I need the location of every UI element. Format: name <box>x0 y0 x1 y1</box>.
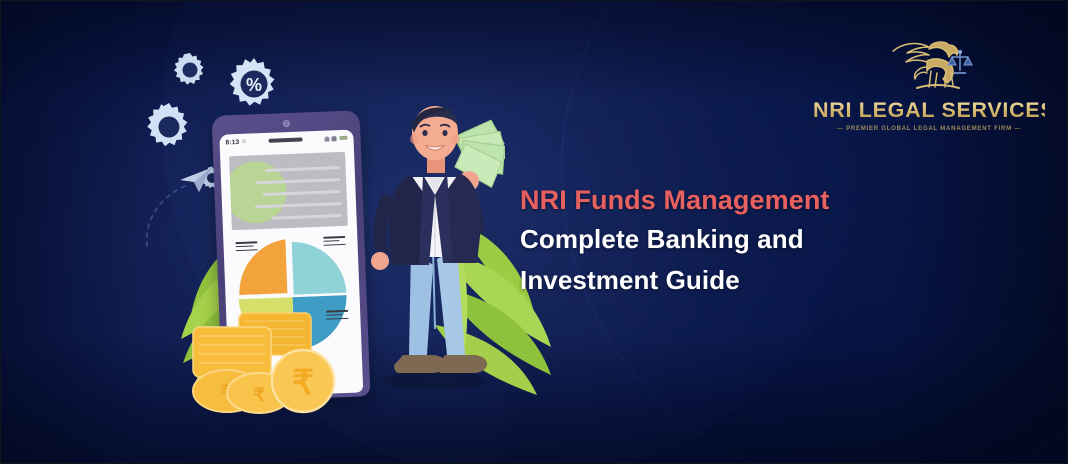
headline-block: NRI Funds Management Complete Banking an… <box>520 181 940 301</box>
signal-icon <box>332 136 337 141</box>
chart-callout-top-right <box>323 236 345 248</box>
content-card <box>229 152 348 230</box>
brand-name: NRI LEGAL SERVICES <box>813 99 1045 122</box>
card-text-line <box>266 166 340 172</box>
paper-plane-icon <box>179 167 213 193</box>
status-bar-alarm-icon: ⌂ <box>242 139 246 145</box>
brand-logo[interactable]: NRI LEGAL SERVICES — PREMIER GLOBAL LEGA… <box>813 35 1045 132</box>
tagline-text: PREMIER GLOBAL LEGAL MANAGEMENT FIRM <box>846 125 1012 132</box>
battery-icon <box>339 135 347 140</box>
headline-line-3: Investment Guide <box>520 260 940 301</box>
gear-medium-icon <box>171 51 209 89</box>
headline-accent-line: NRI Funds Management <box>520 181 940 219</box>
svg-text:%: % <box>246 75 262 95</box>
chart-callout-top-left <box>235 241 257 253</box>
status-bar-icons <box>324 135 347 141</box>
tagline-dash-left: — <box>837 125 844 132</box>
svg-text:₹: ₹ <box>253 385 265 405</box>
gear-percent-icon: % <box>225 55 283 113</box>
phone-camera-icon <box>282 120 289 127</box>
winged-lion-griffin-icon <box>813 35 1045 97</box>
status-bar-time: 8:13 <box>225 138 239 146</box>
rupee-coin-stack: ₹ ₹ ₹ <box>187 307 343 415</box>
wifi-icon <box>324 136 329 141</box>
tagline-dash-right: — <box>1014 125 1021 132</box>
card-text-line <box>271 214 341 220</box>
phone-speaker-notch <box>268 137 302 142</box>
svg-text:₹: ₹ <box>292 364 314 402</box>
headline-line-2: Complete Banking and <box>520 219 940 260</box>
promotional-banner: % <box>0 0 1068 464</box>
gear-large-icon <box>143 101 195 153</box>
brand-tagline: — PREMIER GLOBAL LEGAL MANAGEMENT FIRM — <box>813 125 1045 132</box>
businessman-illustration <box>365 89 505 389</box>
